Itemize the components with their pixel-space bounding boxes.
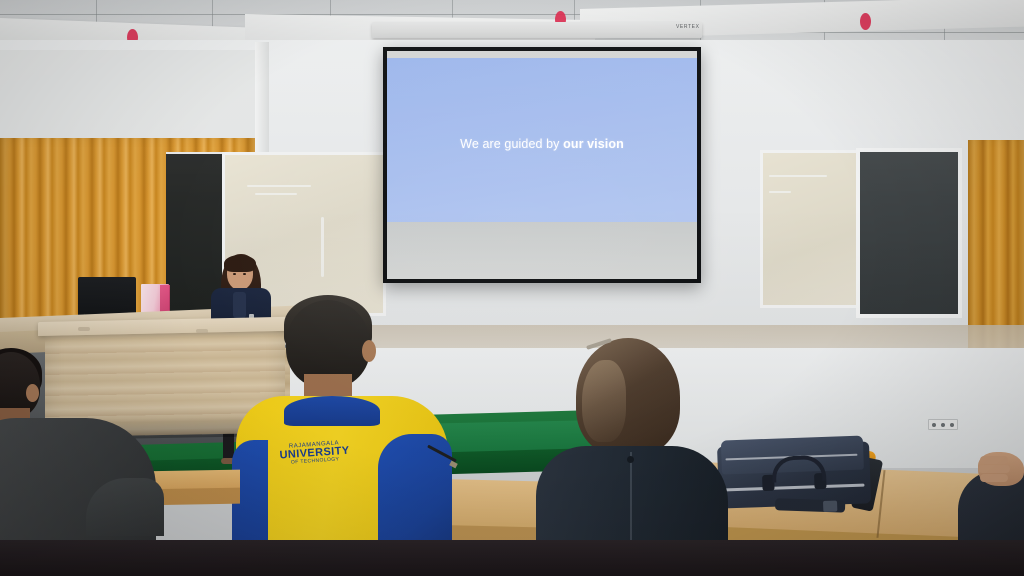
wall-outlet[interactable] — [928, 419, 958, 430]
laptop-bag — [717, 431, 872, 514]
projector-screen-housing — [372, 22, 702, 38]
ceiling-marker-icon — [860, 13, 871, 30]
podium-knob — [196, 329, 208, 333]
collar-button — [627, 456, 634, 463]
presenter-fringe — [224, 255, 256, 272]
floor-shadow — [0, 540, 1024, 576]
polo-collar — [284, 396, 380, 426]
lecture-hall-photo: VERTEX We are guided by our vision — [0, 0, 1024, 576]
blackboard-right — [856, 148, 962, 318]
slide-text-regular: We are guided by — [460, 137, 563, 151]
screen-surface: We are guided by our vision — [387, 51, 697, 279]
presentation-slide: We are guided by our vision — [387, 58, 697, 230]
outlet-slot — [950, 423, 954, 427]
audience-yellow-ear — [362, 340, 376, 362]
whiteboard-right — [760, 150, 863, 308]
university-logo: RAJAMANGALA UNIVERSITY OF TECHNOLOGY — [277, 439, 353, 478]
audience-member-yellow-shirt: RAJAMANGALA UNIVERSITY OF TECHNOLOGY — [228, 300, 458, 576]
presenter-eye-left — [233, 273, 236, 275]
podium-knob — [78, 327, 90, 331]
slide-headline: We are guided by our vision — [460, 137, 624, 151]
far-right-hand — [978, 452, 1024, 486]
projection-screen: We are guided by our vision — [383, 47, 701, 283]
slide-text-bold: our vision — [563, 137, 624, 151]
outlet-slot — [941, 423, 945, 427]
finger — [978, 465, 1010, 473]
screen-lower-band — [387, 222, 697, 279]
screen-housing-label: VERTEX — [676, 24, 700, 30]
finger — [980, 456, 1008, 464]
upper-left-wall — [0, 50, 262, 142]
presenter-eye-right — [243, 273, 246, 275]
laptop-bag-buckle — [823, 501, 837, 512]
audience-navy-hair-highlight — [582, 360, 626, 442]
outlet-slot — [932, 423, 936, 427]
audience-gray-ear — [26, 384, 39, 402]
finger — [980, 474, 1008, 482]
